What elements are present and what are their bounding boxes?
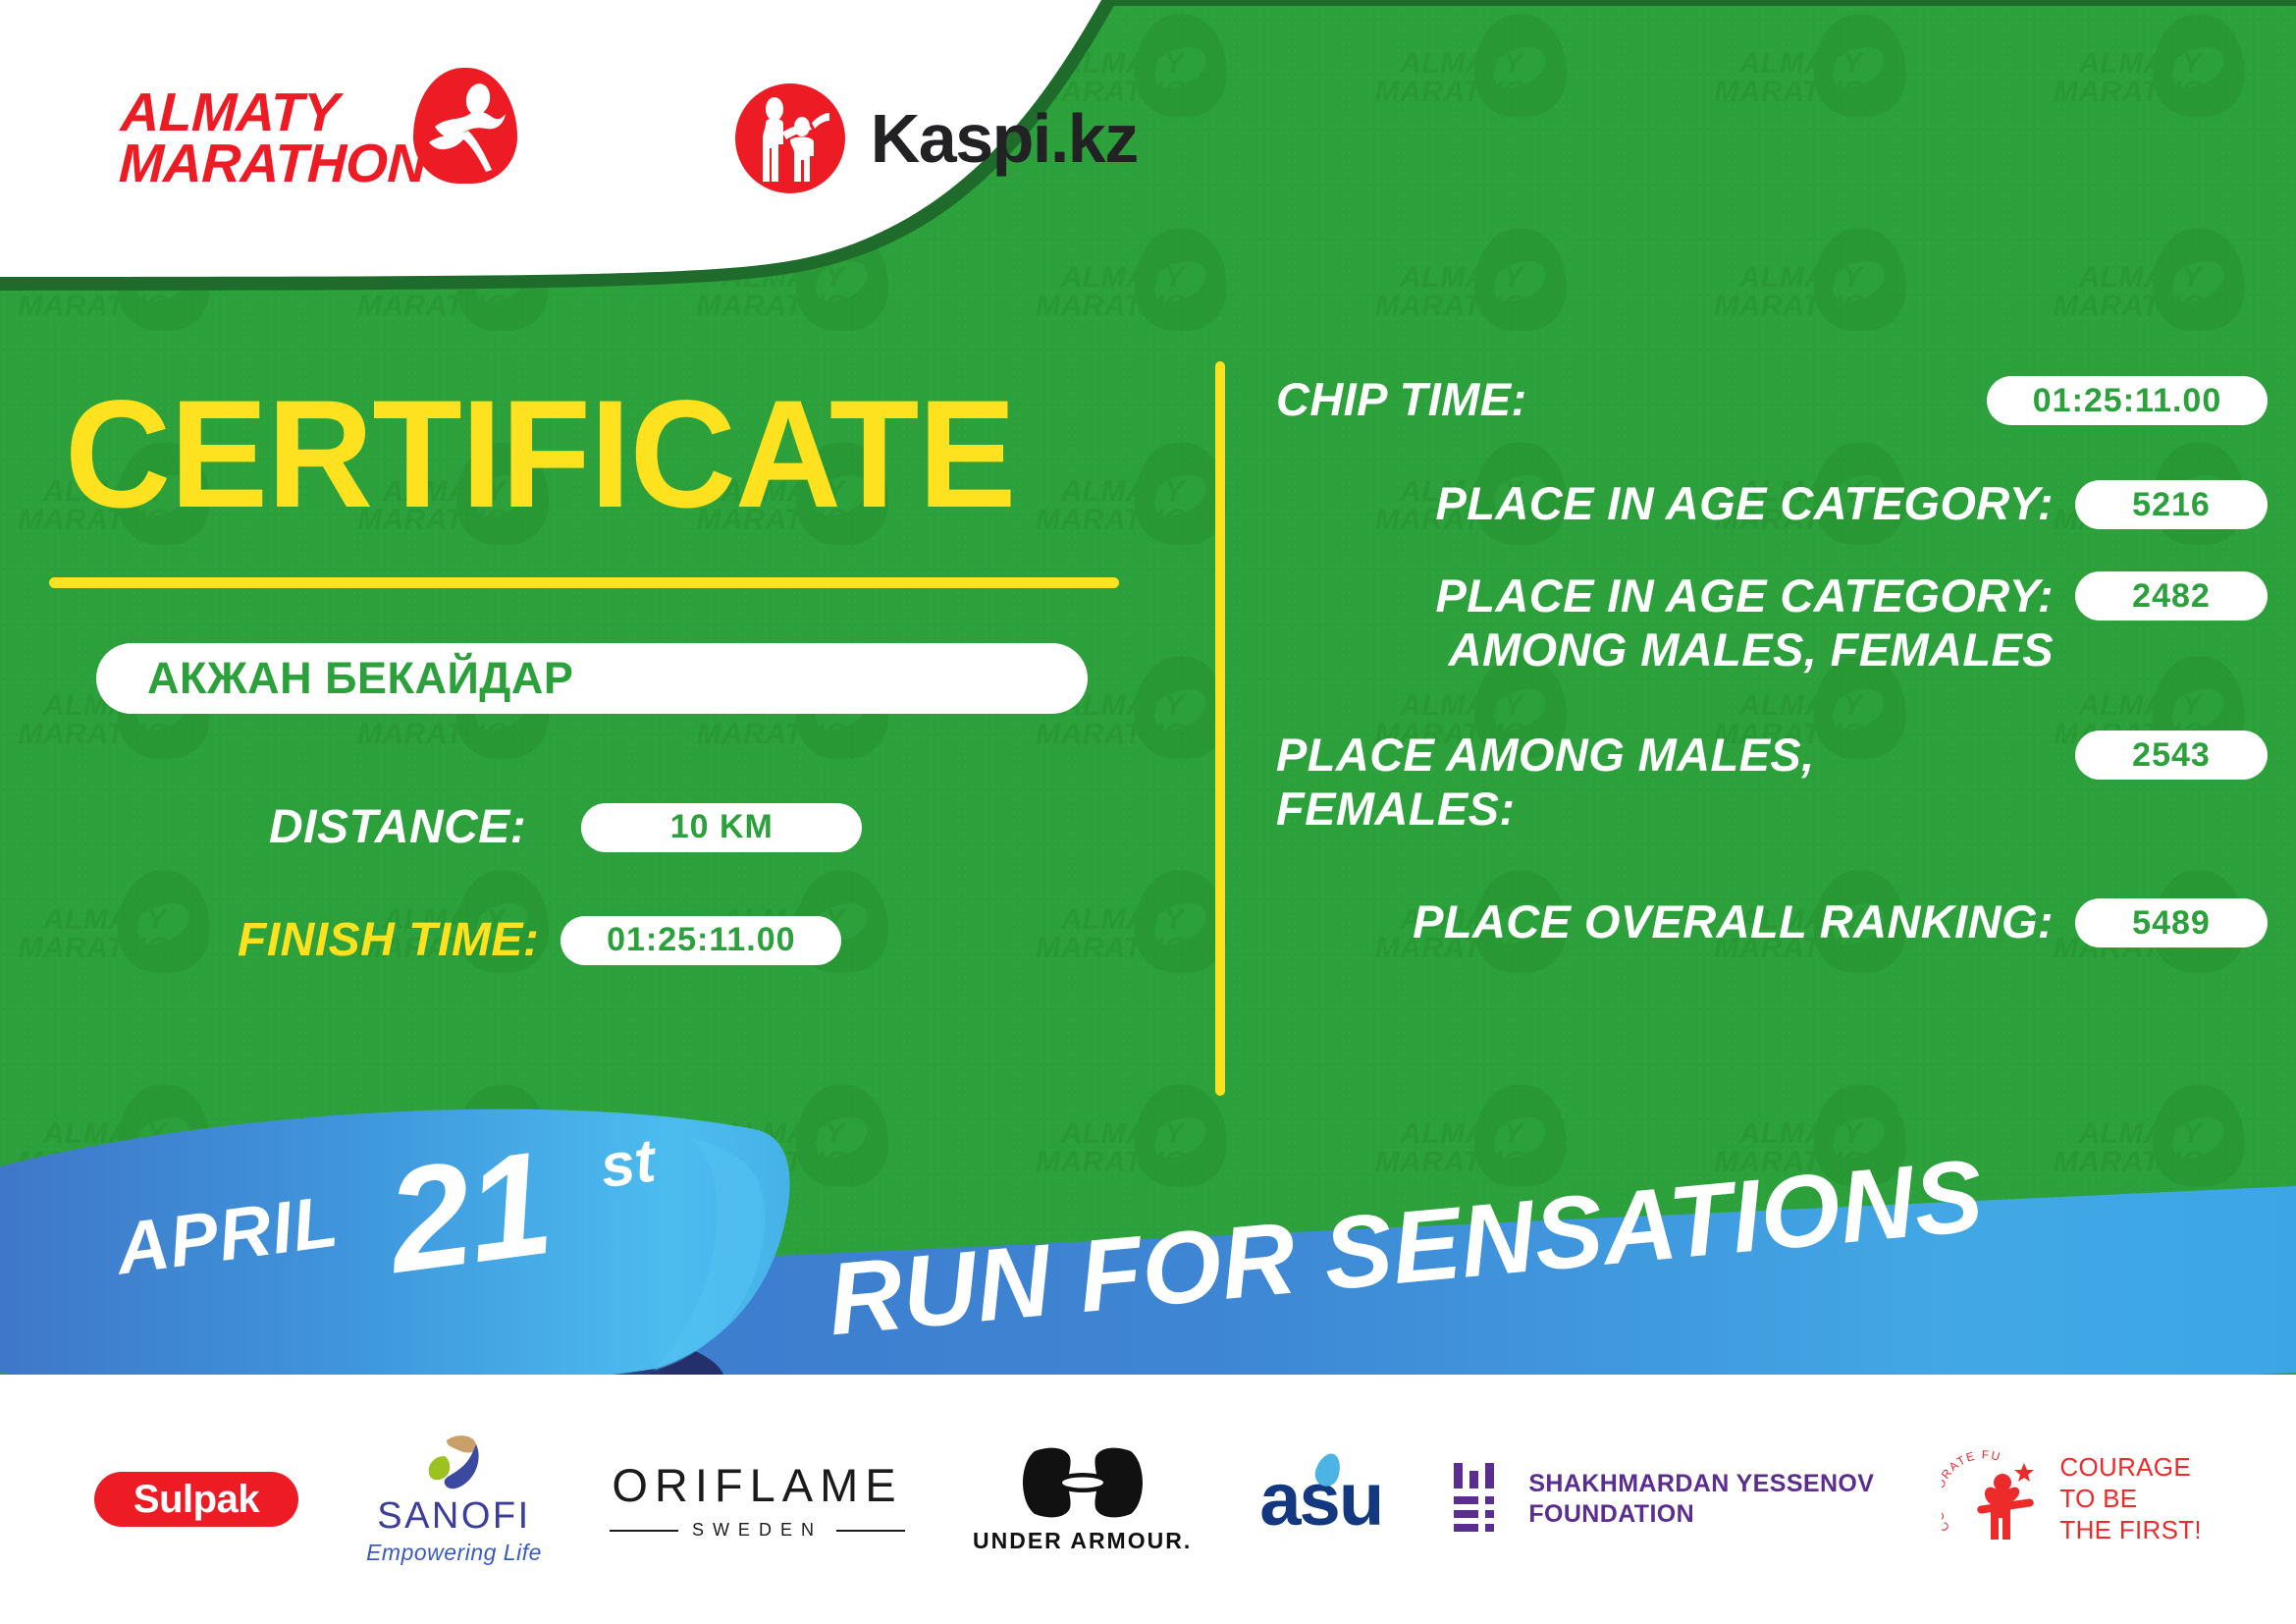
title-underline bbox=[49, 577, 1119, 588]
sanofi-tagline: Empowering Life bbox=[366, 1540, 542, 1566]
sponsor-oriflame: ORIFLAME SWEDEN bbox=[610, 1458, 905, 1541]
place-overall-ranking-value: 5489 bbox=[2132, 904, 2211, 943]
row-place-age-category-among: PLACE IN AGE CATEGORY: AMONG MALES, FEMA… bbox=[1276, 569, 2268, 699]
athlete-name-value: АКЖАН БЕКАЙДАР bbox=[147, 653, 573, 704]
place-age-category-among-line2: AMONG MALES, FEMALES bbox=[1276, 623, 2054, 677]
place-among-males-females-line2: FEMALES: bbox=[1276, 783, 2054, 837]
place-among-males-females-value-pill: 2543 bbox=[2075, 731, 2268, 780]
watermark-tile: ALMATYMARATHON bbox=[1996, 6, 2296, 181]
sanofi-icon bbox=[417, 1433, 490, 1493]
yessenov-icon bbox=[1450, 1461, 1507, 1538]
ribbon-ordinal: st bbox=[597, 1126, 660, 1203]
sponsor-sanofi: SANOFI Empowering Life bbox=[366, 1433, 542, 1566]
place-overall-ranking-label: PLACE OVERALL RANKING: bbox=[1276, 895, 2075, 949]
right-column: CHIP TIME: 01:25:11.00 PLACE IN AGE CATE… bbox=[1276, 361, 2268, 988]
oriflame-rule-left bbox=[610, 1530, 678, 1532]
watermark-text: ALMATYMARATHON bbox=[2054, 263, 2227, 321]
almaty-marathon-wordmark: ALMATY MARATHON bbox=[118, 87, 428, 189]
place-overall-ranking-value-pill: 5489 bbox=[2075, 898, 2268, 947]
athlete-name-field: АКЖАН БЕКАЙДАР bbox=[96, 643, 1088, 714]
place-among-males-females-label: PLACE AMONG MALES, FEMALES: bbox=[1276, 729, 2075, 836]
yessenov-wordmark: SHAKHMARDAN YESSENOV FOUNDATION bbox=[1528, 1469, 1874, 1531]
watermark-drop-icon bbox=[2153, 15, 2245, 117]
chip-time-value-pill: 01:25:11.00 bbox=[1987, 376, 2268, 425]
finish-time-value: 01:25:11.00 bbox=[607, 921, 796, 959]
ribbon-day: 21 bbox=[378, 1117, 559, 1307]
watermark-drop-icon bbox=[2153, 229, 2245, 331]
almaty-marathon-logo: ALMATY MARATHON bbox=[120, 87, 517, 189]
certificate-canvas: ALMATYMARATHONALMATYMARATHONALMATYMARATH… bbox=[0, 0, 2296, 1624]
place-age-category-among-line1: PLACE IN AGE CATEGORY: bbox=[1276, 569, 2054, 623]
watermark-drop-icon bbox=[1813, 229, 1905, 331]
sponsor-asu: asu bbox=[1259, 1457, 1382, 1543]
courage-line3: THE FIRST! bbox=[2059, 1515, 2202, 1546]
sponsor-under-armour: UNDER ARMOUR. bbox=[973, 1445, 1192, 1554]
place-age-category-among-label: PLACE IN AGE CATEGORY: AMONG MALES, FEMA… bbox=[1276, 569, 2075, 677]
watermark-tile: ALMATYMARATHON bbox=[1657, 6, 1997, 181]
oriflame-wordmark: ORIFLAME bbox=[612, 1458, 902, 1512]
finish-time-label: FINISH TIME: bbox=[238, 913, 539, 967]
watermark-drop-icon bbox=[1474, 15, 1567, 117]
watermark-tile: ALMATYMARATHON bbox=[1317, 6, 1657, 181]
row-place-among-males-females: PLACE AMONG MALES, FEMALES: 2543 bbox=[1276, 729, 2268, 856]
row-place-age-category: PLACE IN AGE CATEGORY: 5216 bbox=[1276, 467, 2268, 540]
finish-time-value-pill: 01:25:11.00 bbox=[561, 916, 841, 965]
distance-value: 10 KM bbox=[670, 808, 774, 846]
place-age-category-value-pill: 5216 bbox=[2075, 480, 2268, 529]
almaty-marathon-line2: MARATHON bbox=[118, 138, 427, 189]
under-armour-wordmark: UNDER ARMOUR. bbox=[973, 1528, 1192, 1554]
kaspi-wordmark: Kaspi.kz bbox=[871, 99, 1138, 178]
place-age-category-label: PLACE IN AGE CATEGORY: bbox=[1276, 477, 2075, 531]
sponsor-courage-fund: CORPORATE FUND COURAGE TO BE THE FIRST! bbox=[1942, 1445, 2202, 1553]
watermark-text: ALMATYMARATHON bbox=[1714, 49, 1888, 107]
sponsor-bar: Sulpak SANOFI Empowering Life ORIFLAME S… bbox=[0, 1375, 2296, 1624]
runner-drop-icon bbox=[413, 68, 517, 184]
watermark-text: ALMATYMARATHON bbox=[1375, 49, 1549, 107]
place-age-category-value: 5216 bbox=[2132, 486, 2211, 524]
sulpak-logo: Sulpak bbox=[94, 1472, 298, 1527]
kaspi-logo: Kaspi.kz bbox=[735, 83, 1138, 193]
watermark-text: ALMATYMARATHON bbox=[1375, 263, 1549, 321]
oriflame-sub: SWEDEN bbox=[610, 1520, 905, 1541]
place-among-males-females-line1: PLACE AMONG MALES, bbox=[1276, 729, 2054, 783]
row-chip-time: CHIP TIME: 01:25:11.00 bbox=[1276, 361, 2268, 438]
kaspi-family-icon bbox=[735, 83, 845, 193]
column-divider bbox=[1215, 361, 1225, 1096]
oriflame-rule-right bbox=[836, 1530, 905, 1532]
chip-time-label: CHIP TIME: bbox=[1276, 373, 1987, 427]
oriflame-sweden: SWEDEN bbox=[692, 1520, 823, 1541]
place-among-males-females-value: 2543 bbox=[2132, 736, 2211, 775]
watermark-drop-icon bbox=[1474, 229, 1567, 331]
almaty-marathon-line1: ALMATY bbox=[120, 87, 429, 138]
sponsor-sulpak: Sulpak bbox=[94, 1472, 298, 1527]
watermark-text: ALMATYMARATHON bbox=[2054, 49, 2227, 107]
yessenov-line2: FOUNDATION bbox=[1528, 1499, 1874, 1530]
chip-time-value: 01:25:11.00 bbox=[2033, 382, 2222, 420]
under-armour-icon bbox=[1023, 1445, 1143, 1520]
sponsor-yessenov-foundation: SHAKHMARDAN YESSENOV FOUNDATION bbox=[1450, 1461, 1874, 1538]
courage-wordmark: COURAGE TO BE THE FIRST! bbox=[2059, 1452, 2202, 1545]
watermark-text: ALMATYMARATHON bbox=[1714, 263, 1888, 321]
row-distance: DISTANCE: 10 KM bbox=[269, 800, 862, 854]
yessenov-line1: SHAKHMARDAN YESSENOV bbox=[1528, 1469, 1874, 1499]
row-finish-time: FINISH TIME: 01:25:11.00 bbox=[238, 913, 841, 967]
distance-value-pill: 10 KM bbox=[581, 803, 862, 852]
watermark-drop-icon bbox=[1813, 15, 1905, 117]
place-age-category-among-value: 2482 bbox=[2132, 577, 2211, 616]
courage-runner-icon: CORPORATE FUND bbox=[1942, 1445, 2048, 1553]
page-title: CERTIFICATE bbox=[65, 378, 1015, 531]
courage-line1: COURAGE bbox=[2059, 1452, 2202, 1484]
place-age-category-among-value-pill: 2482 bbox=[2075, 571, 2268, 621]
courage-line2: TO BE bbox=[2059, 1484, 2202, 1515]
distance-label: DISTANCE: bbox=[269, 800, 526, 854]
sanofi-wordmark: SANOFI bbox=[377, 1495, 530, 1538]
row-place-overall-ranking: PLACE OVERALL RANKING: 5489 bbox=[1276, 886, 2268, 958]
header-logos: ALMATY MARATHON bbox=[0, 0, 1178, 277]
